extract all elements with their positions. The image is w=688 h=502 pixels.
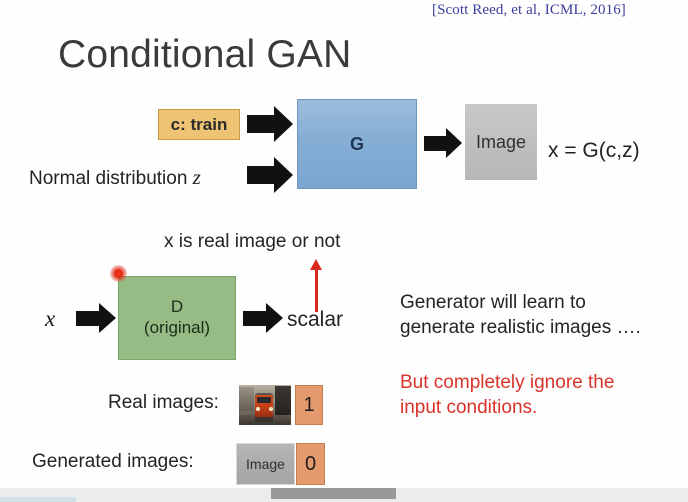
bottom-strip-tint xyxy=(0,497,76,502)
arrow-condition-to-generator-icon xyxy=(247,106,293,142)
discriminator-box-line2: (original) xyxy=(144,318,210,339)
generated-image-thumbnail: Image xyxy=(236,443,295,485)
arrow-generator-to-image-icon xyxy=(424,128,462,158)
red-up-arrow-shaft-icon xyxy=(315,268,318,312)
noise-input-label: Normal distribution z xyxy=(29,165,201,190)
noise-input-label-text: Normal distribution xyxy=(29,168,193,189)
condition-box-c-train: c: train xyxy=(158,109,240,140)
discriminator-box-d: D (original) xyxy=(118,276,236,360)
train-photograph-thumbnail xyxy=(239,385,291,425)
real-image-score-badge: 1 xyxy=(295,385,323,425)
generator-box-g: G xyxy=(297,99,417,189)
discriminator-input-variable-x: x xyxy=(45,306,55,332)
slide-canvas: [Scott Reed, et al, ICML, 2016] Conditio… xyxy=(0,0,688,502)
arrow-discriminator-to-scalar-icon xyxy=(243,303,283,334)
generator-equation: x = G(c,z) xyxy=(548,139,640,163)
arrow-x-to-discriminator-icon xyxy=(76,303,116,334)
real-images-label: Real images: xyxy=(108,392,219,414)
discriminator-box-line1: D xyxy=(171,297,183,318)
video-bottom-strip xyxy=(0,488,688,502)
laser-pointer-dot-icon xyxy=(110,265,127,282)
generated-images-label: Generated images: xyxy=(32,451,194,473)
bottom-strip-chip xyxy=(271,488,396,499)
generated-image-box: Image xyxy=(464,103,538,181)
generated-image-score-badge: 0 xyxy=(296,443,325,485)
citation-text: [Scott Reed, et al, ICML, 2016] xyxy=(432,2,626,19)
page-title: Conditional GAN xyxy=(58,33,351,77)
discriminator-output-question: x is real image or not xyxy=(164,231,340,253)
noise-variable-z: z xyxy=(193,165,201,189)
generator-note: Generator will learn to generate realist… xyxy=(400,290,641,340)
warning-note: But completely ignore the input conditio… xyxy=(400,370,614,420)
arrow-noise-to-generator-icon xyxy=(247,157,293,193)
scalar-output-label: scalar xyxy=(287,308,343,332)
